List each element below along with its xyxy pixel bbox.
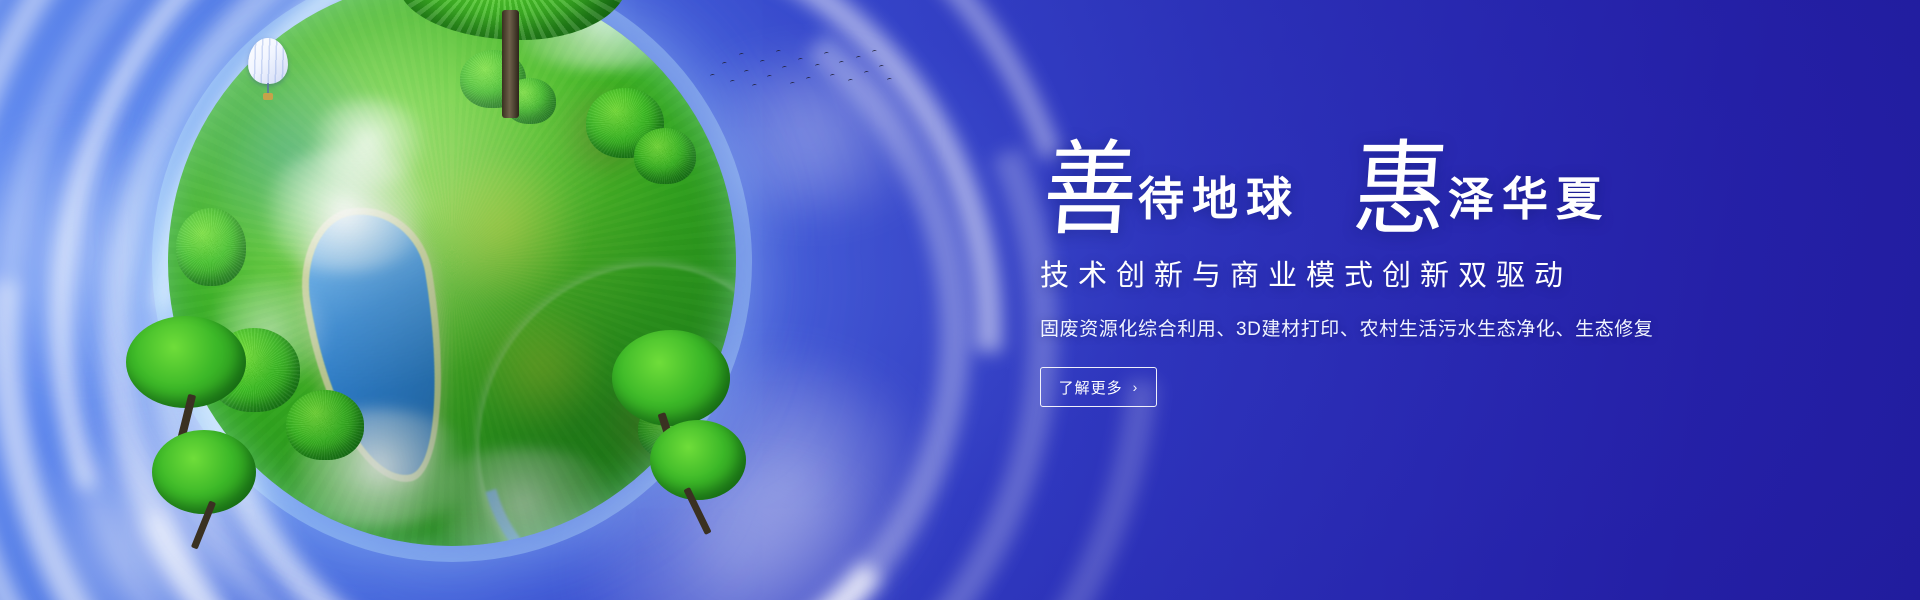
balloon-basket: [263, 93, 273, 100]
learn-more-label: 了解更多: [1059, 377, 1123, 398]
headline-char-shan: 善: [1040, 139, 1141, 242]
bush: [176, 208, 246, 286]
bush: [586, 88, 664, 158]
headline-text-daidiqiu: 待地球: [1138, 176, 1300, 222]
hero-text-block: 善 待地球 惠 泽华夏 技术创新与商业模式创新双驱动 固废资源化综合利用、3D建…: [1040, 128, 1740, 407]
planet-cloud: [418, 448, 628, 546]
headline-char-hui: 惠: [1350, 139, 1451, 242]
hero-subtitle: 技术创新与商业模式创新双驱动: [1040, 252, 1740, 294]
hot-air-balloon-icon: [248, 38, 288, 104]
chevron-right-icon: ›: [1133, 379, 1139, 395]
tree-canopy: [612, 330, 730, 426]
bush: [634, 128, 696, 184]
page-title: 善 待地球 惠 泽华夏: [1040, 128, 1740, 236]
side-tree: [126, 316, 246, 446]
large-tree: [398, 0, 628, 90]
terrain-patch: [418, 158, 588, 298]
learn-more-button[interactable]: 了解更多 ›: [1040, 367, 1157, 407]
side-tree: [650, 420, 746, 540]
side-tree: [152, 430, 256, 550]
terrain-patch: [468, 308, 618, 428]
hero-description: 固废资源化综合利用、3D建材打印、农村生活污水生态净化、生态修复: [1040, 314, 1740, 341]
terrain-patch: [548, 88, 668, 178]
tree-canopy: [126, 316, 246, 408]
tree-canopy: [650, 420, 746, 500]
tree-trunk: [502, 10, 519, 118]
balloon-envelope: [248, 38, 288, 84]
bush: [286, 390, 364, 460]
planet-cloud: [308, 98, 428, 188]
bird-flock: [706, 44, 896, 96]
planet-cloud: [278, 408, 478, 528]
terrain-patch: [198, 38, 388, 268]
tree-canopy: [152, 430, 256, 514]
headline-text-zehuaxia: 泽华夏: [1448, 176, 1610, 222]
planet-cloud: [258, 148, 433, 273]
lake-shape: [298, 205, 456, 485]
hero-banner: 善 待地球 惠 泽华夏 技术创新与商业模式创新双驱动 固废资源化综合利用、3D建…: [0, 0, 1920, 600]
